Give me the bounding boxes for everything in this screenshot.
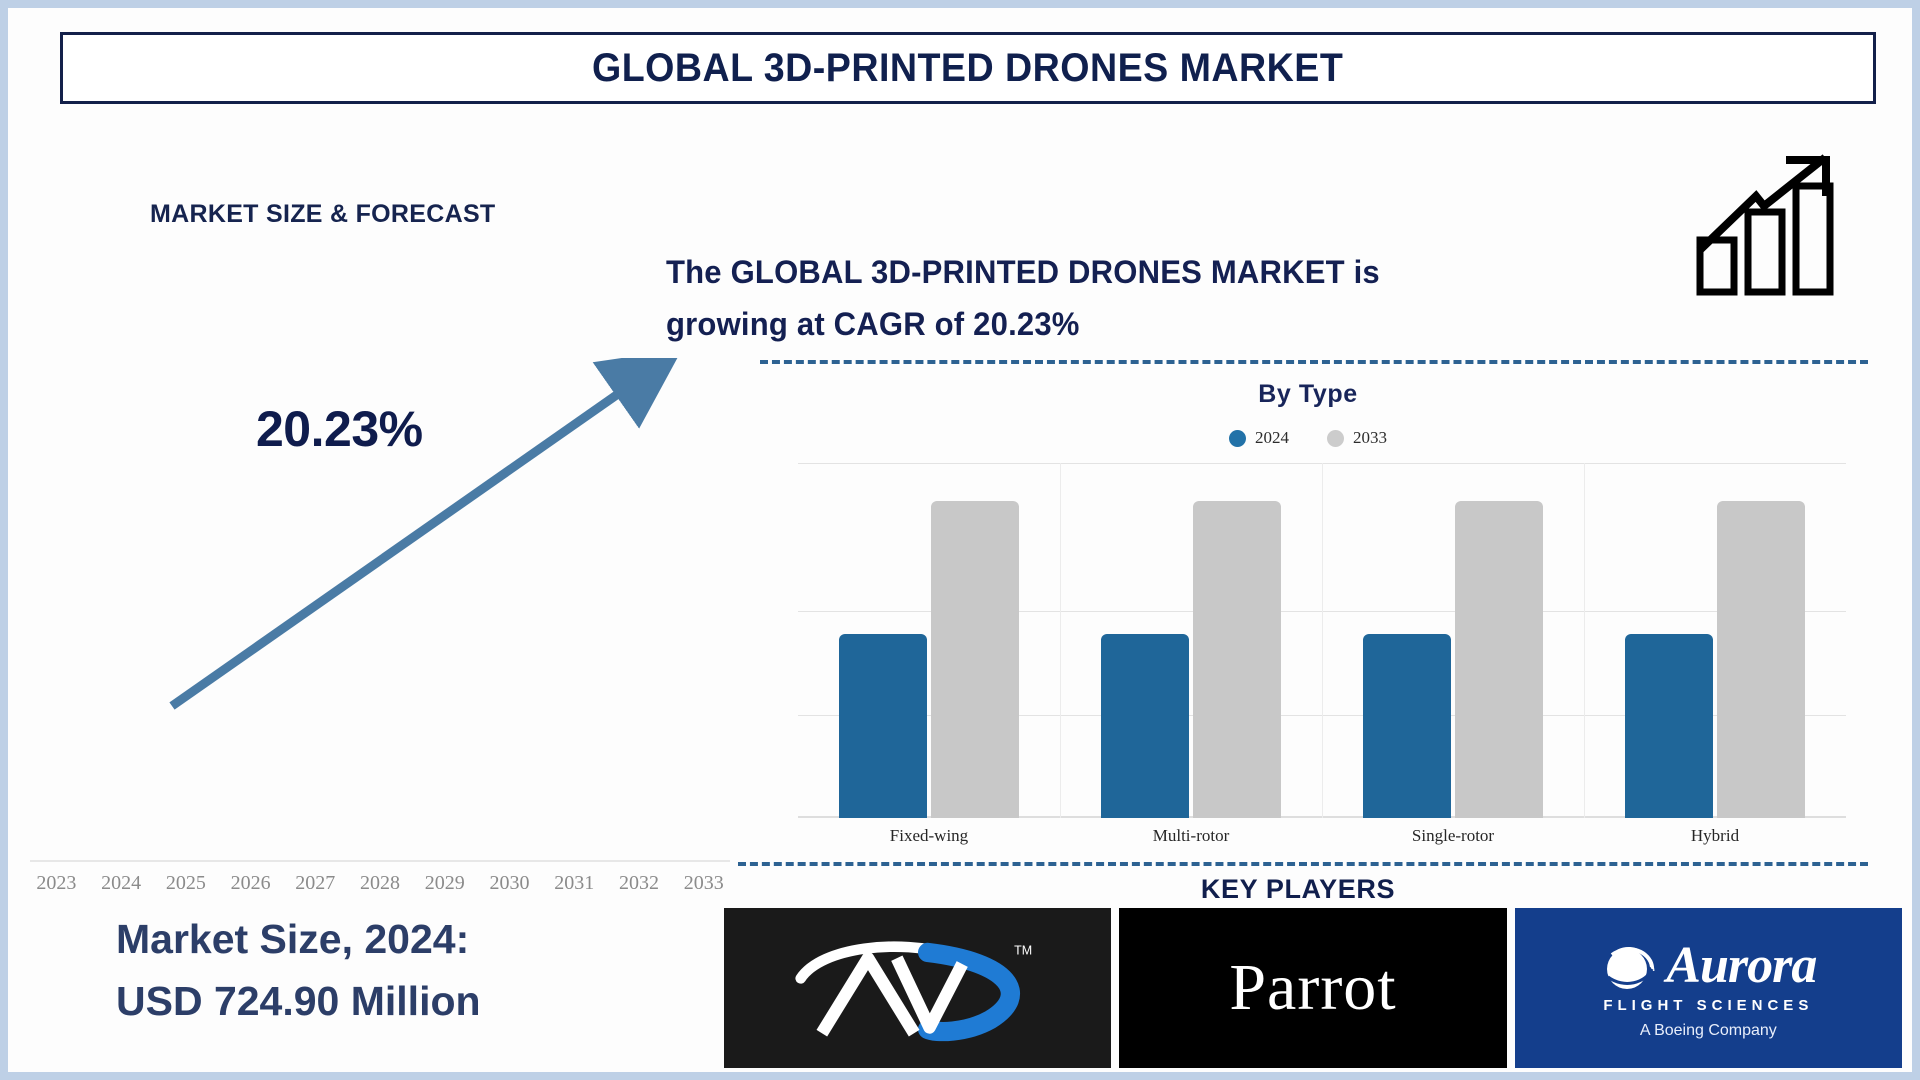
growth-chart-icon: [1694, 148, 1844, 298]
logo-av[interactable]: TM: [724, 908, 1111, 1068]
legend-label-2024: 2024: [1255, 428, 1289, 448]
by-type-legend: 2024 2033: [1158, 428, 1458, 448]
cagr-statement-line1: The GLOBAL 3D-PRINTED DRONES MARKET is: [666, 246, 1646, 298]
by-type-bar-2033: [931, 501, 1019, 818]
logo-parrot-text: Parrot: [1229, 950, 1396, 1026]
dashed-separator-top: [760, 360, 1868, 364]
legend-item-2024: 2024: [1229, 428, 1289, 448]
market-size-line2: USD 724.90 Million: [116, 970, 736, 1032]
forecast-year-label: 2030: [477, 872, 542, 895]
by-type-group: [1322, 463, 1584, 818]
market-size-forecast-heading: MARKET SIZE & FORECAST: [150, 200, 496, 229]
forecast-year-label: 2025: [153, 872, 218, 895]
key-players-title: KEY PLAYERS: [1088, 874, 1508, 905]
by-type-bar-2033: [1455, 501, 1543, 818]
forecast-year-label: 2031: [542, 872, 607, 895]
by-type-group: [1584, 463, 1846, 818]
logo-aurora[interactable]: Aurora FLIGHT SCIENCES A Boeing Company: [1515, 908, 1902, 1068]
by-type-category-label: Hybrid: [1584, 826, 1846, 846]
by-type-bar-2033: [1193, 501, 1281, 818]
forecast-year-label: 2028: [348, 872, 413, 895]
forecast-year-label: 2033: [671, 872, 736, 895]
legend-item-2033: 2033: [1327, 428, 1387, 448]
by-type-bar-2024: [1101, 634, 1189, 818]
page-title: GLOBAL 3D-PRINTED DRONES MARKET: [592, 46, 1343, 91]
title-box: GLOBAL 3D-PRINTED DRONES MARKET: [60, 32, 1876, 104]
by-type-bar-groups: [798, 463, 1846, 818]
forecast-year-label: 2027: [283, 872, 348, 895]
by-type-category-label: Single-rotor: [1322, 826, 1584, 846]
logo-aurora-text: Aurora: [1666, 939, 1816, 993]
forecast-axis-line: [30, 860, 730, 862]
by-type-bar-2024: [1363, 634, 1451, 818]
legend-dot-2024: [1229, 430, 1246, 447]
key-players-logos: TM Parrot Aurora FLIGHT SCIENCES A Boein…: [724, 908, 1902, 1068]
by-type-bar-2024: [839, 634, 927, 818]
market-size-line1: Market Size, 2024:: [116, 908, 736, 970]
logo-aurora-subtitle: FLIGHT SCIENCES: [1603, 997, 1813, 1014]
forecast-year-label: 2024: [89, 872, 154, 895]
by-type-group: [1060, 463, 1322, 818]
market-size-value: Market Size, 2024: USD 724.90 Million: [116, 908, 736, 1032]
dashed-separator-bottom: [738, 862, 1868, 866]
legend-dot-2033: [1327, 430, 1344, 447]
by-type-category-label: Fixed-wing: [798, 826, 1060, 846]
by-type-group: [798, 463, 1060, 818]
aurora-globe-icon: [1600, 937, 1658, 995]
infographic-page: GLOBAL 3D-PRINTED DRONES MARKET MARKET S…: [8, 8, 1912, 1072]
legend-label-2033: 2033: [1353, 428, 1387, 448]
by-type-chart: [798, 463, 1846, 818]
forecast-year-label: 2026: [218, 872, 283, 895]
cagr-statement: The GLOBAL 3D-PRINTED DRONES MARKET is g…: [666, 246, 1676, 350]
forecast-year-label: 2023: [24, 872, 89, 895]
growth-trend-arrow: [158, 358, 688, 728]
cagr-callout: 20.23%: [256, 400, 423, 458]
forecast-year-label: 2029: [412, 872, 477, 895]
by-type-category-label: Multi-rotor: [1060, 826, 1322, 846]
svg-text:TM: TM: [1014, 943, 1032, 957]
by-type-bar-2033: [1717, 501, 1805, 818]
by-type-bar-2024: [1625, 634, 1713, 818]
cagr-statement-line2: growing at CAGR of 20.23%: [666, 298, 1646, 350]
logo-parrot[interactable]: Parrot: [1119, 908, 1506, 1068]
forecast-year-labels: 2023202420252026202720282029203020312032…: [24, 872, 736, 895]
logo-aurora-tagline: A Boeing Company: [1640, 1022, 1777, 1040]
forecast-year-label: 2032: [607, 872, 672, 895]
by-type-category-labels: Fixed-wingMulti-rotorSingle-rotorHybrid: [798, 826, 1846, 846]
by-type-title: By Type: [1158, 380, 1458, 409]
